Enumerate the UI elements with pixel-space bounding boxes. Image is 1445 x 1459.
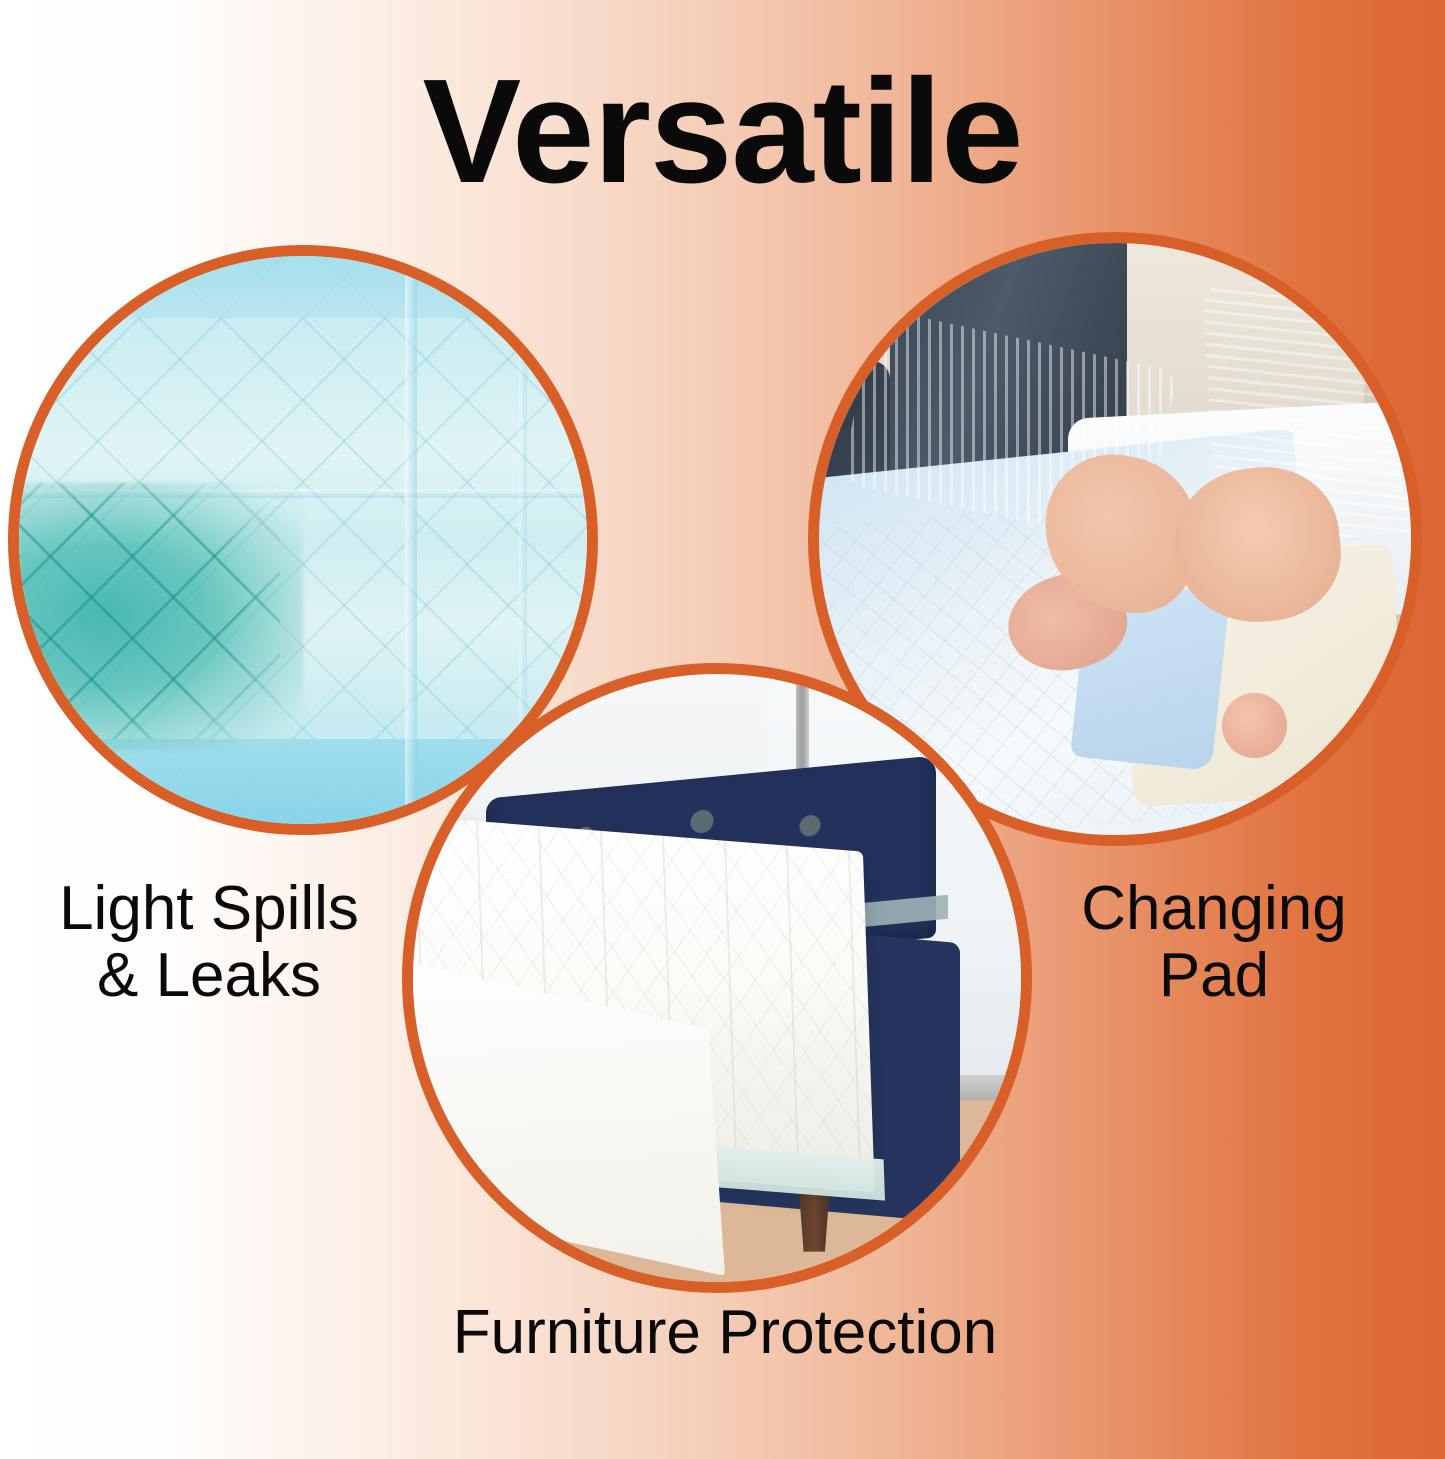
underpad-top-band <box>19 256 587 318</box>
feature-label-light-spills: Light Spills & Leaks <box>0 876 418 1010</box>
feature-label-line2: Pad <box>1012 943 1416 1010</box>
feature-label-line2: & Leaks <box>0 943 418 1010</box>
feature-label-changing-pad: Changing Pad <box>1012 876 1416 1010</box>
baby-hand <box>1222 693 1287 758</box>
light-spills-photo <box>19 256 587 824</box>
feature-circle-light-spills <box>8 245 598 835</box>
feature-label-furniture-protection: Furniture Protection <box>330 1300 1120 1367</box>
page-title: Versatile <box>0 58 1445 206</box>
feature-label-line1: Furniture Protection <box>453 1298 997 1367</box>
feature-label-line1: Light Spills <box>59 874 359 943</box>
versatile-infographic: Versatile <box>0 0 1445 1459</box>
underpad-vertical-fold-secondary <box>519 256 527 824</box>
underpad-bottom-band <box>19 739 587 824</box>
underpad-vertical-fold <box>405 256 416 824</box>
absorbed-liquid-quilt-overlay <box>19 483 280 739</box>
feature-label-line1: Changing <box>1081 874 1346 943</box>
